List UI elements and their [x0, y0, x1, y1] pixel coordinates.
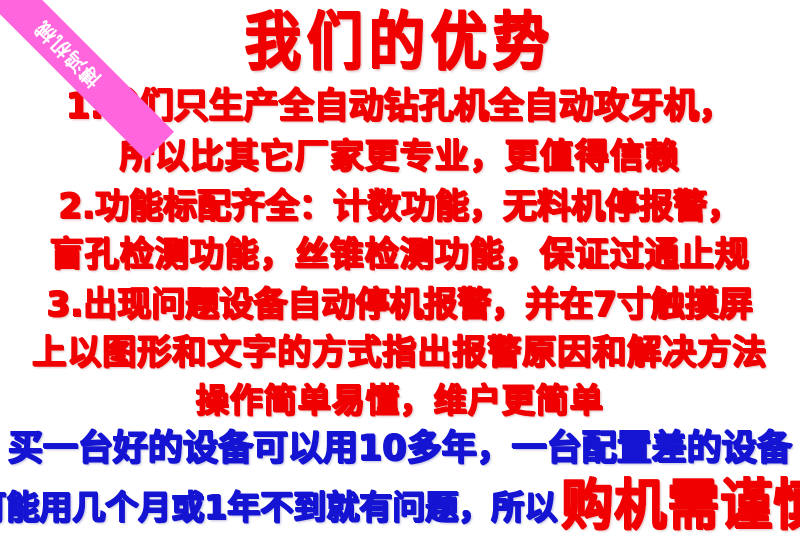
advantage-2-line-1: 2.功能标配齐全：计数功能，无料机停报警，: [0, 190, 800, 224]
page-title: 我们的优势: [0, 12, 800, 75]
advantage-1-line-2: 所以比其它厂家更专业，更值得信赖: [0, 140, 800, 174]
advantage-2-line-2: 盲孔检测功能，丝锥检测功能，保证过通止规: [0, 238, 800, 272]
footer-line-1: 买一台好的设备可以用10多年，一台配置差的设备: [0, 432, 800, 467]
advantage-3-line-3: 操作简单易懂，维户更简单: [0, 384, 800, 417]
footer-line-2-prefix: 可能用几个月或1年不到就有问题，所以: [0, 491, 557, 532]
advantage-3-line-1: 3.出现问题设备自动停机报警，并在7寸触摸屏: [0, 288, 800, 322]
footer-line-2: 可能用几个月或1年不到就有问题，所以 购机需谨慎: [0, 480, 800, 532]
footer-line-2-emphasis: 购机需谨慎: [561, 479, 800, 534]
advantage-3-line-2: 上以图形和文字的方式指出报警原因和解决方法: [0, 336, 800, 370]
advertisement-poster: 博鸿机械 我们的优势 1.我们只生产全自动钻孔机全自动攻牙机， 所以比其它厂家更…: [0, 0, 800, 554]
